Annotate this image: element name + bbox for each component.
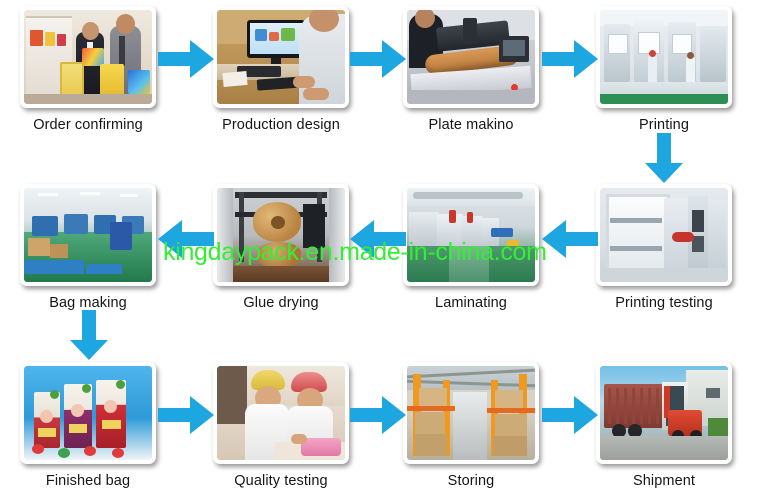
process-flow-diagram: Order confirming Production design Plate… bbox=[0, 0, 760, 496]
step-thumbnail-shipment bbox=[596, 362, 732, 464]
step-thumbnail-quality-testing bbox=[213, 362, 349, 464]
step-thumbnail-printing-testing bbox=[596, 184, 732, 286]
step-label-bag-making: Bag making bbox=[20, 295, 156, 311]
step-label-glue-drying: Glue drying bbox=[213, 295, 349, 311]
plate-engraving-icon bbox=[407, 10, 535, 104]
step-thumbnail-order-confirming bbox=[20, 6, 156, 108]
step-card-printing-testing[interactable]: Printing testing bbox=[596, 184, 732, 311]
bag-workshop-icon bbox=[24, 188, 152, 282]
step-thumbnail-bag-making bbox=[20, 184, 156, 286]
step-label-order-confirming: Order confirming bbox=[20, 117, 156, 133]
step-card-glue-drying[interactable]: Glue drying bbox=[213, 184, 349, 311]
arrow-finished-bag-to-quality-testing bbox=[158, 396, 214, 434]
step-thumbnail-finished-bag bbox=[20, 362, 156, 464]
step-card-production-design[interactable]: Production design bbox=[213, 6, 349, 133]
warehouse-racking-icon bbox=[407, 366, 535, 460]
step-card-quality-testing[interactable]: Quality testing bbox=[213, 362, 349, 489]
arrow-laminating-to-glue-drying bbox=[350, 220, 406, 258]
step-card-bag-making[interactable]: Bag making bbox=[20, 184, 156, 311]
arrow-storing-to-shipment bbox=[542, 396, 598, 434]
arrow-design-to-plate bbox=[350, 40, 406, 78]
step-card-laminating[interactable]: Laminating bbox=[403, 184, 539, 311]
step-card-shipment[interactable]: Shipment bbox=[596, 362, 732, 489]
inspection-rewinder-icon bbox=[600, 188, 728, 282]
step-card-order-confirming[interactable]: Order confirming bbox=[20, 6, 156, 133]
arrow-bag-making-to-finished-bag bbox=[70, 310, 108, 360]
arrow-printing-testing-to-laminating bbox=[542, 220, 598, 258]
arrow-glue-drying-to-bag-making bbox=[158, 220, 214, 258]
drying-rolls-icon bbox=[217, 188, 345, 282]
step-label-shipment: Shipment bbox=[596, 473, 732, 489]
qc-workers-icon bbox=[217, 366, 345, 460]
step-card-plate-making[interactable]: Plate makino bbox=[403, 6, 539, 133]
step-card-finished-bag[interactable]: Finished bag bbox=[20, 362, 156, 489]
step-label-production-design: Production design bbox=[213, 117, 349, 133]
finished-pouches-icon bbox=[24, 366, 152, 460]
step-thumbnail-plate-making bbox=[403, 6, 539, 108]
arrow-order-to-design bbox=[158, 40, 214, 78]
step-thumbnail-laminating bbox=[403, 184, 539, 286]
step-label-storing: Storing bbox=[403, 473, 539, 489]
step-label-printing: Printing bbox=[596, 117, 732, 133]
arrow-printing-to-printing-testing bbox=[645, 133, 683, 183]
laminating-line-icon bbox=[407, 188, 535, 282]
step-card-printing[interactable]: Printing bbox=[596, 6, 732, 133]
step-thumbnail-printing bbox=[596, 6, 732, 108]
step-card-storing[interactable]: Storing bbox=[403, 362, 539, 489]
step-label-printing-testing: Printing testing bbox=[596, 295, 732, 311]
step-thumbnail-production-design bbox=[213, 6, 349, 108]
showroom-customers-icon bbox=[24, 10, 152, 104]
step-label-laminating: Laminating bbox=[403, 295, 539, 311]
container-truck-icon bbox=[600, 366, 728, 460]
step-label-quality-testing: Quality testing bbox=[213, 473, 349, 489]
designer-monitor-icon bbox=[217, 10, 345, 104]
arrow-plate-to-printing bbox=[542, 40, 598, 78]
arrow-quality-testing-to-storing bbox=[350, 396, 406, 434]
step-thumbnail-storing bbox=[403, 362, 539, 464]
step-label-finished-bag: Finished bag bbox=[20, 473, 156, 489]
step-thumbnail-glue-drying bbox=[213, 184, 349, 286]
printing-press-icon bbox=[600, 10, 728, 104]
step-label-plate-making: Plate makino bbox=[403, 117, 539, 133]
